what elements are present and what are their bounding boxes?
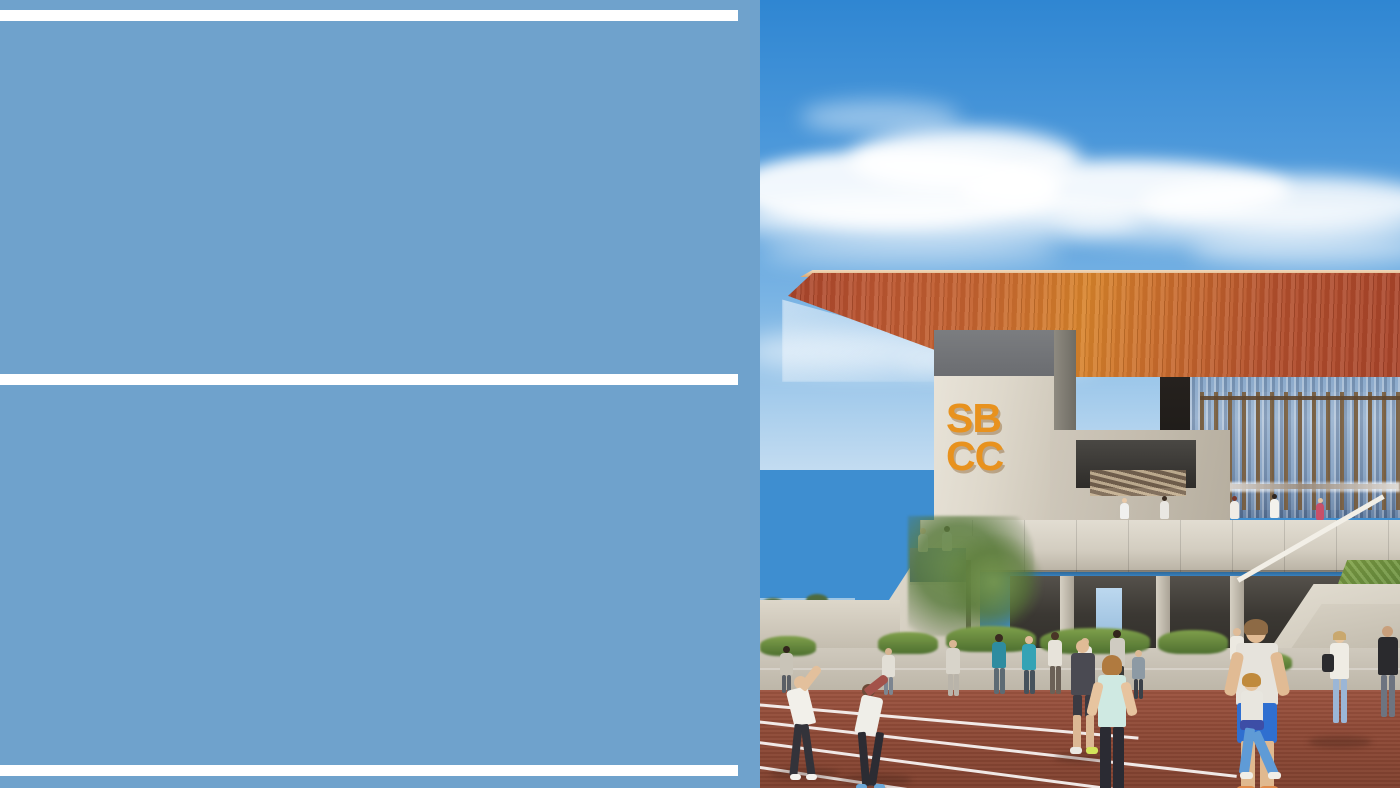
sbcc-logo: SB CC [946,400,1042,475]
tree-canopy [946,534,1042,630]
upper-stair [1090,470,1186,496]
person-shadow [1308,736,1372,748]
louver-rail [1200,396,1400,400]
divider-rule-top [0,10,738,21]
cloud-shape [760,236,1060,266]
vertical-louvers [1200,392,1400,510]
tower-upper-band [934,330,1054,378]
shrub [1158,630,1228,654]
divider-rule-middle [0,374,738,385]
event-announcement-poster: SB CC [0,0,1400,788]
person-shadow [770,768,840,780]
building-rendering-photo: SB CC [760,0,1400,788]
info-panel [0,0,760,788]
glass-highlight [1208,482,1400,492]
sbcc-logo-line2: CC [946,438,1042,476]
divider-rule-bottom [0,765,738,776]
